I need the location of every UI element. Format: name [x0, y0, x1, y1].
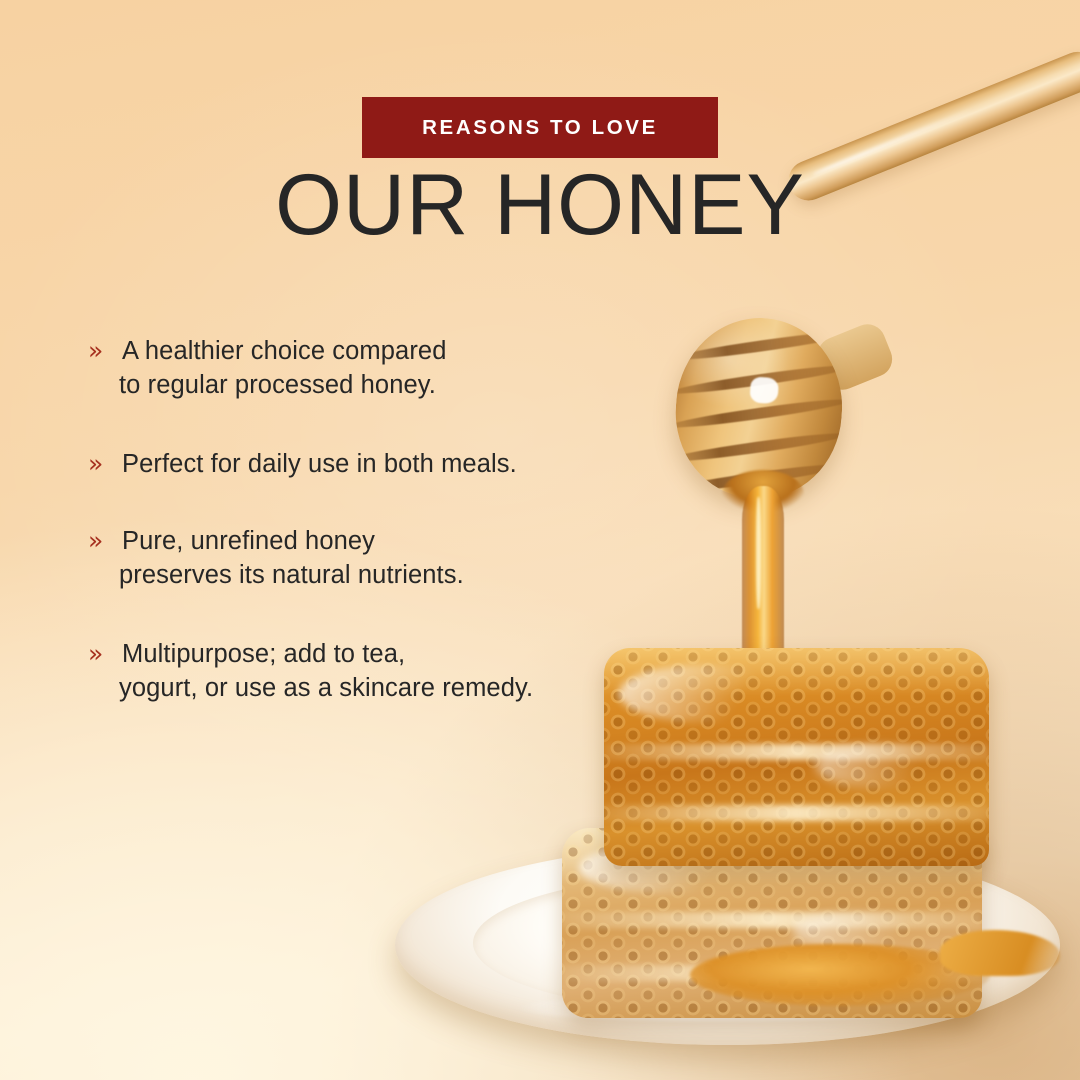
honeycomb-block-top: [604, 648, 989, 866]
list-item-line2: to regular processed honey.: [119, 368, 446, 402]
list-item-line2: preserves its natural nutrients.: [119, 558, 464, 592]
eyebrow-banner: REASONS TO LOVE: [362, 97, 718, 158]
honeycomb-band: [604, 805, 989, 821]
list-item-line1: Perfect for daily use in both meals.: [122, 450, 517, 478]
list-item-line1: Multipurpose; add to tea,: [122, 640, 405, 668]
list-item-line1: A healthier choice compared: [122, 337, 446, 365]
eyebrow-label: REASONS TO LOVE: [422, 116, 658, 140]
list-item: » Perfect for daily use in both meals.: [88, 447, 648, 481]
list-item-line1: Pure, unrefined honey: [122, 527, 375, 555]
honeycomb-gloss: [816, 744, 947, 788]
double-chevron-icon: »: [88, 334, 122, 368]
list-item: » Pure, unrefined honey preserves its na…: [88, 524, 648, 592]
page-title: OUR HONEY: [0, 160, 1080, 250]
double-chevron-icon: »: [88, 524, 122, 558]
honey-drip-side: [940, 930, 1060, 976]
list-item: » A healthier choice compared to regular…: [88, 334, 648, 402]
poster-canvas: REASONS TO LOVE OUR HONEY » A healthier …: [0, 0, 1080, 1080]
list-item-text: Multipurpose; add to tea, yogurt, or use…: [122, 637, 533, 705]
benefits-list: » A healthier choice compared to regular…: [88, 334, 648, 705]
list-item-text: Perfect for daily use in both meals.: [122, 447, 517, 481]
list-item-text: Pure, unrefined honey preserves its natu…: [122, 524, 464, 592]
list-item: » Multipurpose; add to tea, yogurt, or u…: [88, 637, 648, 705]
double-chevron-icon: »: [88, 447, 122, 481]
list-item-text: A healthier choice compared to regular p…: [122, 334, 446, 402]
double-chevron-icon: »: [88, 637, 122, 671]
list-item-line2: yogurt, or use as a skincare remedy.: [119, 671, 533, 705]
dipper-highlight: [749, 377, 779, 404]
honey-stream: [742, 486, 784, 672]
dipper-groove: [670, 429, 848, 466]
